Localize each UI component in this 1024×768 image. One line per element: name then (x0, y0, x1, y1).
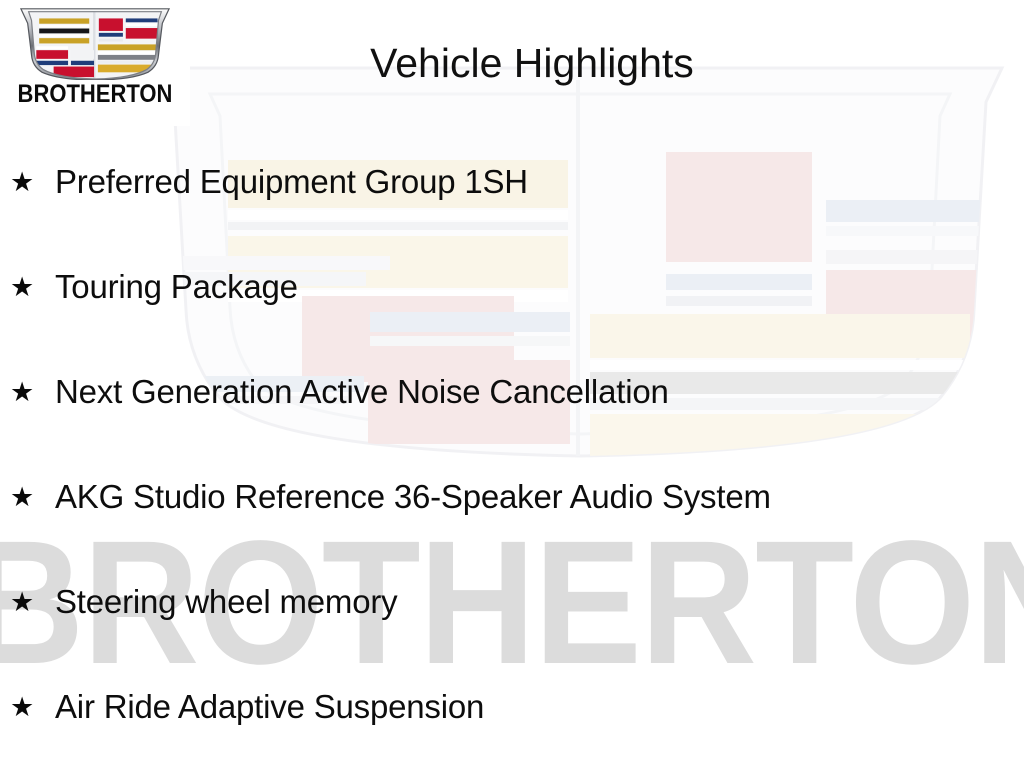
cadillac-crest-icon (16, 4, 174, 80)
highlight-label: Air Ride Adaptive Suspension (55, 685, 1024, 729)
vehicle-highlights-slide: BROTHERTON (0, 0, 1024, 768)
star-bullet-icon: ★ (10, 685, 36, 729)
star-bullet-icon: ★ (10, 265, 36, 309)
highlight-label: Touring Package (55, 265, 1024, 309)
star-bullet-icon: ★ (10, 475, 36, 519)
star-bullet-icon: ★ (10, 160, 36, 204)
highlight-label: Preferred Equipment Group 1SH (55, 160, 1024, 204)
list-item: ★ AKG Studio Reference 36-Speaker Audio … (0, 475, 1024, 580)
star-bullet-icon: ★ (10, 580, 36, 624)
vehicle-highlights-list: ★ Preferred Equipment Group 1SH ★ Tourin… (0, 160, 1024, 768)
dealer-logo[interactable]: BROTHERTON (0, 0, 190, 126)
star-bullet-icon: ★ (10, 370, 36, 414)
dealer-name-wordmark: BROTHERTON (18, 82, 173, 107)
list-item: ★ Next Generation Active Noise Cancellat… (0, 370, 1024, 475)
highlight-label: Steering wheel memory (55, 580, 1024, 624)
list-item: ★ Preferred Equipment Group 1SH (0, 160, 1024, 265)
list-item: ★ Touring Package (0, 265, 1024, 370)
highlight-label: Next Generation Active Noise Cancellatio… (55, 370, 1024, 414)
highlight-label: AKG Studio Reference 36-Speaker Audio Sy… (55, 475, 1024, 519)
list-item: ★ Air Ride Adaptive Suspension (0, 685, 1024, 768)
list-item: ★ Steering wheel memory (0, 580, 1024, 685)
